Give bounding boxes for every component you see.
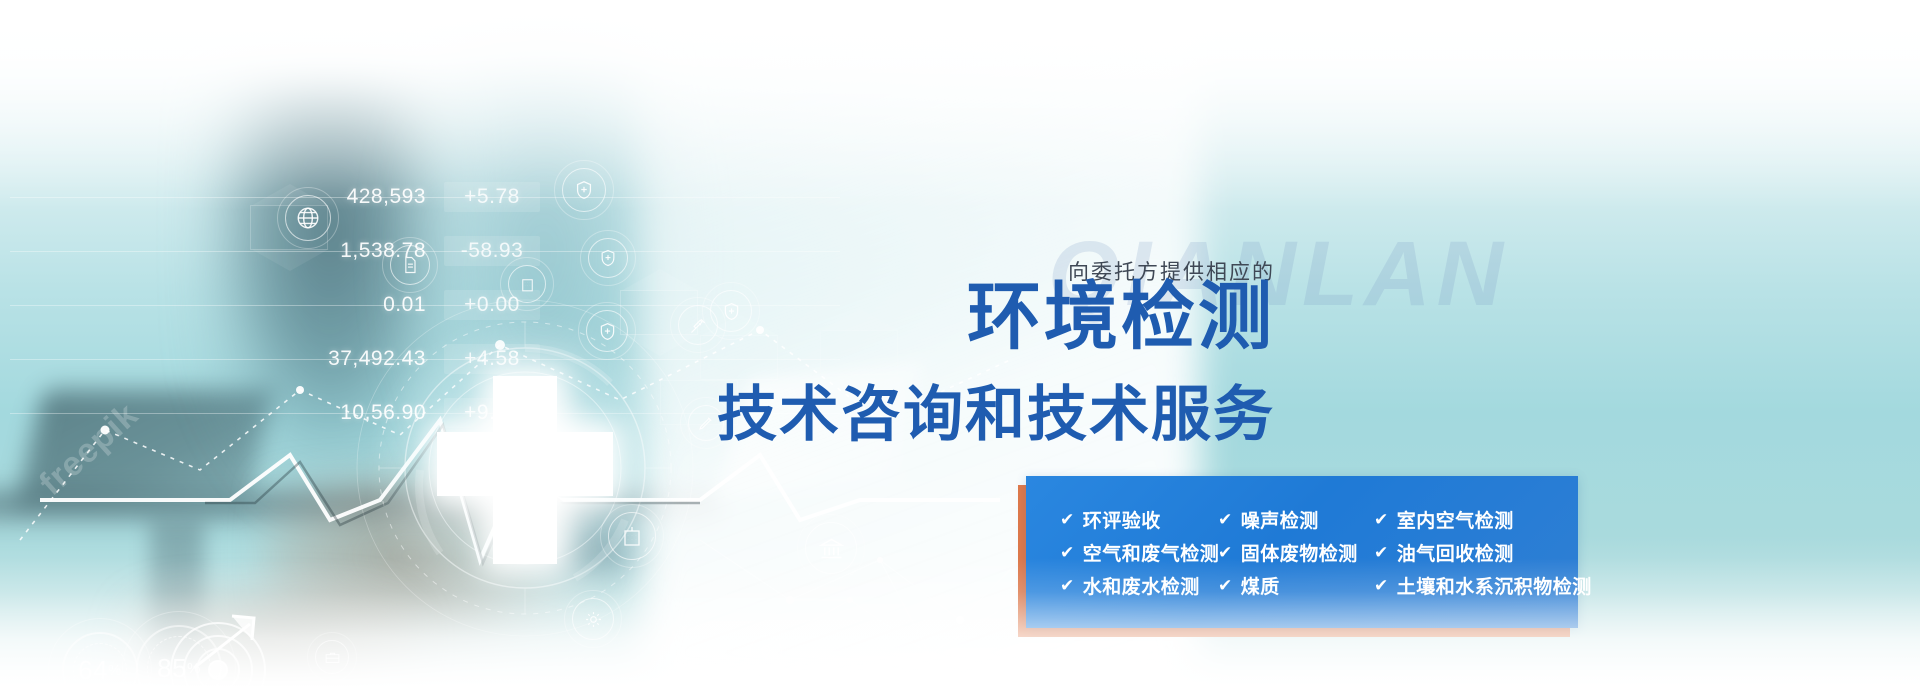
cross-horizontal <box>437 432 613 496</box>
hud-change: +0.00 <box>444 290 540 320</box>
page-subtitle: 技术咨询和技术服务 <box>717 385 1275 445</box>
card-blue-panel: ✔ 环评验收 ✔ 噪声检测 ✔ 室内空气检测 ✔ 空气和废气检测 ✔ 固体 <box>1026 476 1578 628</box>
shield-cross-icon <box>562 168 606 212</box>
check-icon: ✔ <box>1218 544 1233 561</box>
hud-value: 0.01 <box>298 293 426 317</box>
service-grid: ✔ 环评验收 ✔ 噪声检测 ✔ 室内空气检测 ✔ 空气和废气检测 ✔ 固体 <box>1026 476 1578 628</box>
service-label: 噪声检测 <box>1241 506 1319 533</box>
service-item[interactable]: ✔ 水和废水检测 <box>1060 569 1210 602</box>
service-label: 煤质 <box>1241 572 1280 599</box>
check-icon: ✔ <box>1374 511 1389 528</box>
service-label: 水和废水检测 <box>1083 572 1200 599</box>
service-label: 室内空气检测 <box>1397 506 1514 533</box>
page-title: 环境检测 <box>967 280 1275 354</box>
check-icon: ✔ <box>1060 577 1075 594</box>
service-item[interactable]: ✔ 环评验收 <box>1060 503 1210 536</box>
hud-change: +4.58 <box>444 344 540 374</box>
shield-cross-icon <box>586 310 628 352</box>
briefcase-icon <box>315 640 349 674</box>
hud-change: +5.78 <box>444 182 540 212</box>
hud-value: 10,56.90 <box>298 401 426 425</box>
syringe-icon <box>678 305 718 345</box>
hud-value: 428,593 <box>298 185 426 209</box>
bank-icon <box>805 522 857 574</box>
hud-change: -58.93 <box>444 236 540 266</box>
gear-icon <box>572 598 614 640</box>
location-pin-icon <box>750 635 782 667</box>
hud-value: 1,538.78 <box>298 239 426 263</box>
hud-value: 37,492.43 <box>298 347 426 371</box>
check-icon: ✔ <box>1218 511 1233 528</box>
service-item[interactable]: ✔ 室内空气检测 <box>1374 503 1592 536</box>
check-icon: ✔ <box>1060 511 1075 528</box>
check-icon: ✔ <box>1060 544 1075 561</box>
service-item[interactable]: ✔ 土壤和水系沉积物检测 <box>1374 569 1592 602</box>
gauge-dashed-ring <box>73 643 127 688</box>
hud-change: +9.42 <box>444 398 540 428</box>
service-label: 土壤和水系沉积物检测 <box>1397 572 1592 599</box>
service-label: 空气和废气检测 <box>1083 539 1220 566</box>
service-label: 固体废物检测 <box>1241 539 1358 566</box>
hospital-building-icon <box>608 512 656 560</box>
check-icon: ✔ <box>1374 544 1389 561</box>
shield-cross-icon <box>588 238 628 278</box>
service-item[interactable]: ✔ 噪声检测 <box>1218 503 1366 536</box>
service-list-card: ✔ 环评验收 ✔ 噪声检测 ✔ 室内空气检测 ✔ 空气和废气检测 ✔ 固体 <box>1018 476 1578 636</box>
service-label: 油气回收检测 <box>1397 539 1514 566</box>
check-icon: ✔ <box>1218 577 1233 594</box>
service-item[interactable]: ✔ 煤质 <box>1218 569 1366 602</box>
target-dartboard-icon <box>170 622 266 688</box>
service-label: 环评验收 <box>1083 506 1161 533</box>
hexagon-decor <box>820 330 898 375</box>
check-icon: ✔ <box>1374 577 1389 594</box>
hero-banner: freepik 428,593 +5.78 1,538.78 -58.93 0.… <box>0 0 1920 688</box>
service-item[interactable]: ✔ 固体废物检测 <box>1218 536 1366 569</box>
dart-arrow-icon <box>188 610 278 680</box>
service-item[interactable]: ✔ 油气回收检测 <box>1374 536 1592 569</box>
service-item[interactable]: ✔ 空气和废气检测 <box>1060 536 1210 569</box>
